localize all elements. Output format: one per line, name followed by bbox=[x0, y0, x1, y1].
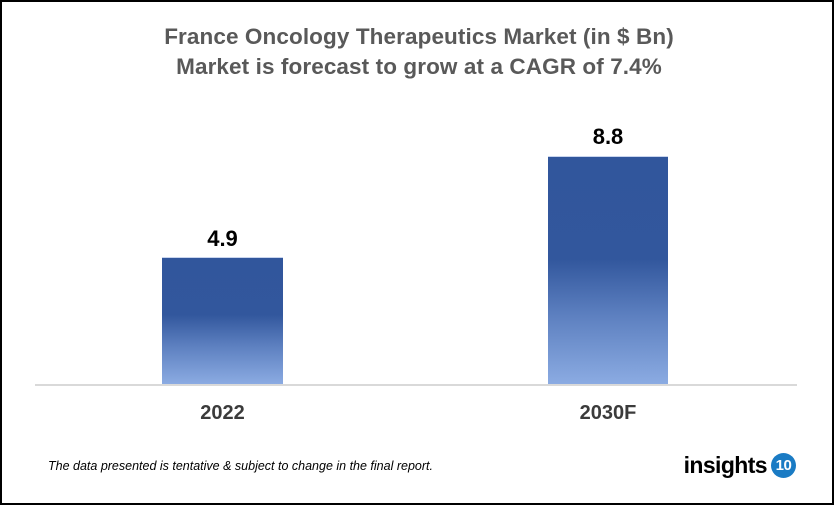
bar-2030f[interactable] bbox=[548, 156, 668, 384]
brand-logo-badge-icon: 10 bbox=[771, 453, 796, 478]
chart-canvas: France Oncology Therapeutics Market (in … bbox=[2, 2, 832, 503]
x-axis-tick-2022: 2022 bbox=[162, 400, 283, 426]
bar-value-label-2022: 4.9 bbox=[162, 226, 283, 252]
disclaimer-text: The data presented is tentative & subjec… bbox=[48, 459, 433, 473]
bar-value-label-2030f: 8.8 bbox=[548, 124, 668, 150]
chart-card: France Oncology Therapeutics Market (in … bbox=[0, 0, 834, 505]
bar-2022[interactable] bbox=[162, 257, 283, 384]
x-axis-tick-2030f: 2030F bbox=[548, 400, 668, 426]
brand-logo-wordmark: insights bbox=[684, 452, 767, 478]
x-axis-line bbox=[35, 384, 797, 386]
brand-logo: insights 10 bbox=[684, 452, 796, 478]
plot-area: 4.9 2022 8.8 2030F bbox=[2, 2, 834, 505]
